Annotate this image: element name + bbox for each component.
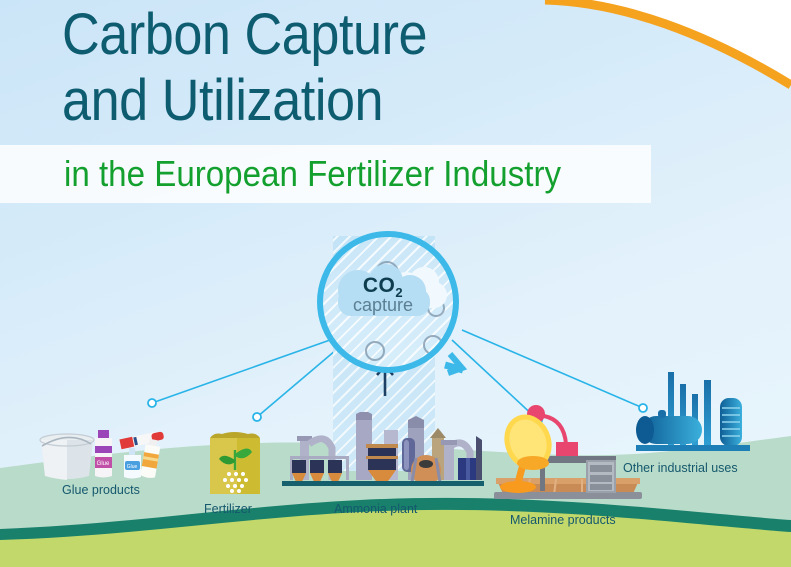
title-block: Carbon Capture and Utilization bbox=[62, 2, 702, 134]
glue-tube-red-icon bbox=[119, 430, 164, 449]
glue-tube-purple-icon: Glue bbox=[95, 430, 112, 478]
capture-caption: capture bbox=[333, 295, 433, 316]
title-line-2: and Utilization bbox=[62, 68, 638, 134]
ammonia-plant-illustration bbox=[280, 412, 486, 490]
label-glue-products: Glue products bbox=[62, 483, 140, 497]
industrial-base bbox=[636, 445, 750, 451]
co2-main: CO bbox=[363, 274, 396, 297]
connector-line-other bbox=[462, 330, 643, 408]
reactor-round bbox=[411, 455, 441, 485]
infographic-poster: Carbon Capture and Utilization in the Eu… bbox=[0, 0, 791, 567]
svg-text:Glue: Glue bbox=[97, 461, 110, 467]
other-industrial-uses-illustration bbox=[628, 368, 758, 460]
svg-text:Glue: Glue bbox=[127, 464, 138, 470]
label-other-industrial-uses: Other industrial uses bbox=[623, 461, 738, 475]
fertilizer-illustration bbox=[204, 428, 266, 498]
bubble-icon bbox=[423, 335, 443, 355]
floor-edge bbox=[494, 492, 642, 499]
label-melamine-products: Melamine products bbox=[510, 513, 616, 527]
plant-base bbox=[282, 481, 484, 486]
connector-line-fertilizer bbox=[257, 350, 336, 417]
chimney bbox=[704, 380, 711, 446]
label-fertilizer: Fertilizer bbox=[204, 502, 252, 516]
silo-group bbox=[292, 460, 342, 482]
title-line-1: Carbon Capture bbox=[62, 2, 638, 68]
bucket-icon bbox=[40, 434, 94, 480]
bubble-icon bbox=[365, 341, 385, 361]
connector-endpoint-fertilizer bbox=[253, 413, 261, 421]
glue-bottle-blue-icon: Glue bbox=[124, 448, 141, 479]
subtitle: in the European Fertilizer Industry bbox=[64, 148, 616, 200]
label-ammonia-plant: Ammonia plant bbox=[334, 502, 417, 516]
tank-vertical bbox=[720, 398, 742, 446]
glue-products-illustration: Glue Glue bbox=[36, 424, 186, 484]
pipe-cluster-right bbox=[441, 436, 482, 480]
connector-line-glue bbox=[152, 340, 330, 403]
melamine-products-illustration bbox=[490, 400, 650, 505]
connector-endpoint-glue bbox=[148, 399, 156, 407]
